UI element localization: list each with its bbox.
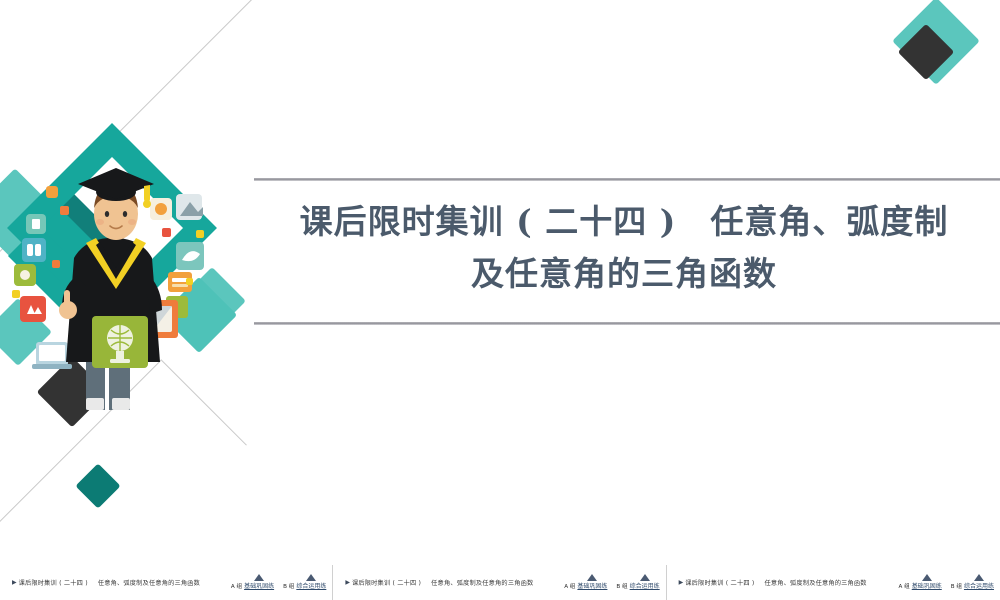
triangle-up-icon: [587, 574, 597, 581]
play-marker-icon: ▶: [345, 580, 350, 586]
footer-group-b-label: B 组: [616, 582, 627, 590]
footer-group-b-link[interactable]: 综合运用练: [964, 581, 994, 590]
footer-title: 课后限时集训 ( 二十四 )任意角、弧度制及任意角的三角函数: [352, 578, 533, 587]
footer-group-a[interactable]: A 组 基础巩固练: [231, 575, 274, 590]
footer-group-a-label: A 组: [899, 582, 910, 590]
triangle-up-icon: [306, 574, 316, 581]
footer-group-a-label: A 组: [231, 582, 242, 590]
play-marker-icon: ▶: [12, 580, 17, 586]
footer-title: 课后限时集训 ( 二十四 )任意角、弧度制及任意角的三角函数: [685, 578, 866, 587]
triangle-up-icon: [974, 574, 984, 581]
footer-title-subject: 任意角、弧度制及任意角的三角函数: [98, 580, 200, 587]
page-title: 课后限时集训 ( 二十四 ) 任意角、弧度制 及任意角的三角函数: [254, 196, 994, 300]
footer-panel[interactable]: ▶ 课后限时集训 ( 二十四 )任意角、弧度制及任意角的三角函数 A 组 基础巩…: [333, 565, 666, 600]
footer-title-main: 课后限时集训 ( 二十四 ): [19, 580, 88, 587]
footer-group-b[interactable]: B 组 综合运用练: [616, 575, 659, 590]
footer-group-a[interactable]: A 组 基础巩固练: [899, 575, 942, 590]
footer-title-main: 课后限时集训 ( 二十四 ): [685, 580, 754, 587]
footer-panel[interactable]: ▶ 课后限时集训 ( 二十四 )任意角、弧度制及任意角的三角函数 A 组 基础巩…: [0, 565, 333, 600]
footer-bar: ▶ 课后限时集训 ( 二十四 )任意角、弧度制及任意角的三角函数 A 组 基础巩…: [0, 565, 1000, 600]
slide-canvas: 课后限时集训 ( 二十四 ) 任意角、弧度制 及任意角的三角函数 ▶ 课后限时集…: [0, 0, 1000, 600]
title-rule-top: [254, 178, 1000, 181]
footer-group-a-link[interactable]: 基础巩固练: [912, 581, 942, 590]
footer-group-a-link[interactable]: 基础巩固练: [244, 581, 274, 590]
triangle-up-icon: [922, 574, 932, 581]
play-marker-icon: ▶: [679, 580, 684, 586]
footer-group-b-link[interactable]: 综合运用练: [296, 581, 326, 590]
footer-panel[interactable]: ▶ 课后限时集训 ( 二十四 )任意角、弧度制及任意角的三角函数 A 组 基础巩…: [667, 565, 1000, 600]
footer-group-b-label: B 组: [951, 582, 962, 590]
footer-group-a[interactable]: A 组 基础巩固练: [564, 575, 607, 590]
footer-group-b-link[interactable]: 综合运用练: [630, 581, 660, 590]
footer-title-subject: 任意角、弧度制及任意角的三角函数: [765, 580, 867, 587]
footer-links: A 组 基础巩固练 B 组 综合运用练: [564, 565, 659, 600]
footer-group-a-link[interactable]: 基础巩固练: [577, 581, 607, 590]
triangle-up-icon: [254, 574, 264, 581]
footer-group-b-label: B 组: [283, 582, 294, 590]
title-line-1: 课后限时集训 ( 二十四 ) 任意角、弧度制: [254, 196, 994, 248]
graduate-student-illustration: [0, 110, 250, 410]
triangle-up-icon: [640, 574, 650, 581]
footer-title-subject: 任意角、弧度制及任意角的三角函数: [431, 580, 533, 587]
title-line-2: 及任意角的三角函数: [254, 248, 994, 300]
footer-group-b[interactable]: B 组 综合运用练: [951, 575, 994, 590]
title-block: 课后限时集训 ( 二十四 ) 任意角、弧度制 及任意角的三角函数: [254, 170, 1000, 330]
footer-links: A 组 基础巩固练 B 组 综合运用练: [231, 565, 326, 600]
footer-group-b[interactable]: B 组 综合运用练: [283, 575, 326, 590]
footer-links: A 组 基础巩固练 B 组 综合运用练: [899, 565, 994, 600]
title-rule-bottom: [254, 322, 1000, 325]
footer-group-a-label: A 组: [564, 582, 575, 590]
bottom-left-teal-dark-diamond: [75, 463, 120, 508]
footer-title-main: 课后限时集训 ( 二十四 ): [352, 580, 421, 587]
footer-title: 课后限时集训 ( 二十四 )任意角、弧度制及任意角的三角函数: [19, 578, 200, 587]
